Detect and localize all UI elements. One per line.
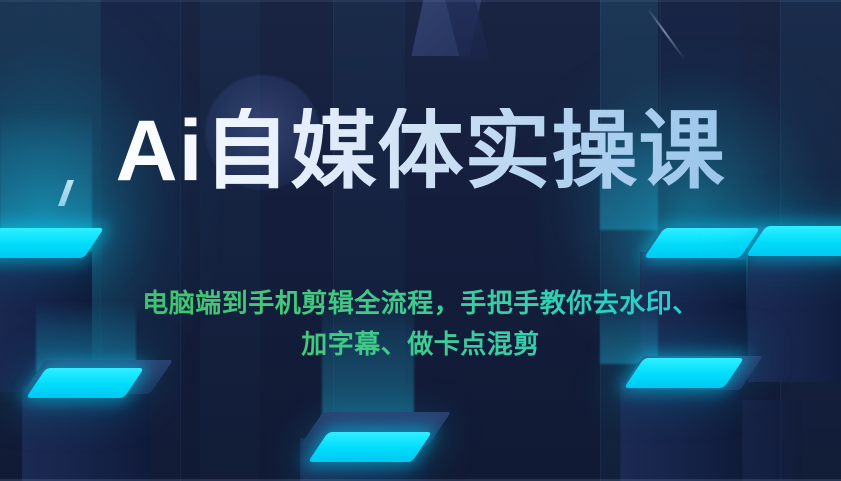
- glowing-plate-center: [308, 432, 432, 462]
- glowing-plate-lower-left: [26, 368, 144, 398]
- pillar-right-silhouette: [742, 400, 802, 481]
- poster-subtitle-container: 电脑端到手机剪辑全流程，手把手教你去水印、 加字幕、做卡点混剪: [0, 283, 841, 365]
- pillar-lower-left: [22, 386, 150, 481]
- poster-subtitle: 电脑端到手机剪辑全流程，手把手教你去水印、 加字幕、做卡点混剪: [142, 283, 699, 365]
- poster-subtitle-line-2: 加字幕、做卡点混剪: [301, 329, 540, 359]
- poster-title: Ai自媒体实操课: [116, 108, 726, 194]
- top-hairline: [0, 0, 841, 2]
- poster-subtitle-line-1: 电脑端到手机剪辑全流程，手把手教你去水印、: [142, 288, 699, 318]
- pillar-lower-right: [620, 382, 740, 481]
- course-poster: Ai自媒体实操课 电脑端到手机剪辑全流程，手把手教你去水印、 加字幕、做卡点混剪: [0, 0, 841, 481]
- poster-title-container: Ai自媒体实操课: [0, 108, 841, 194]
- glowing-plate-mid-right: [644, 228, 760, 258]
